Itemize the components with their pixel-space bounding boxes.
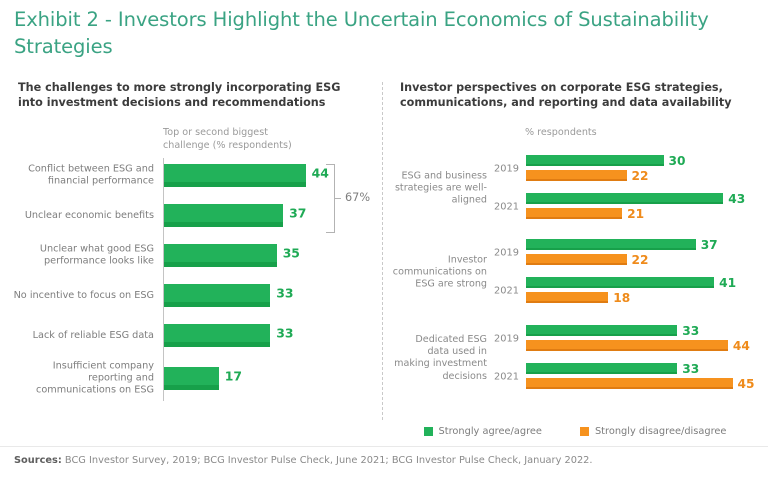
legend-item-disagree: Strongly disagree/disagree: [580, 426, 727, 437]
bracket-label: 67%: [345, 191, 370, 204]
exhibit-page: Exhibit 2 - Investors Highlight the Unce…: [0, 0, 768, 481]
right-bar-disagree: 22: [526, 170, 627, 181]
left-category-label: No incentive to focus on ESG: [6, 289, 154, 301]
right-bar-agree: 37: [526, 239, 696, 250]
bracket-marker: [326, 164, 335, 233]
right-bar-track: 43: [526, 193, 724, 204]
right-bar-subgroup: 2019 37 22: [382, 236, 768, 270]
sources-text: BCG Investor Survey, 2019; BCG Investor …: [65, 455, 593, 466]
right-bar-subgroup: 2021 33 45: [382, 360, 768, 394]
left-bar: 37: [164, 204, 283, 227]
right-bar-value: 45: [738, 377, 755, 391]
right-bar-track: 45: [526, 378, 733, 389]
right-bar-group: ESG and business strategies are well-ali…: [382, 152, 768, 225]
chart-legend: Strongly agree/agree Strongly disagree/d…: [382, 421, 768, 441]
left-bar-track: 35: [164, 244, 277, 267]
left-bar-track: 17: [164, 367, 219, 390]
right-bar-agree: 41: [526, 277, 715, 288]
left-category-label: Insufficient company reporting and commu…: [6, 360, 154, 397]
right-bar-value: 33: [682, 324, 699, 338]
left-bar-value: 33: [276, 286, 293, 301]
right-bar-disagree: 44: [526, 340, 728, 351]
left-bar-row: Unclear what good ESG performance looks …: [0, 240, 382, 271]
left-bar: 44: [164, 164, 306, 187]
bracket-tick: [335, 198, 341, 199]
left-bar: 33: [164, 284, 270, 307]
left-category-label: Lack of reliable ESG data: [6, 329, 154, 341]
right-bar-agree: 30: [526, 155, 664, 166]
right-bar-subgroup: 2021 41 18: [382, 274, 768, 308]
right-bar-subgroup: 2021 43 21: [382, 190, 768, 224]
left-bar-row: No incentive to focus on ESG 33: [0, 280, 382, 311]
left-bar-value: 35: [283, 246, 300, 261]
right-bar-group: Dedicated ESG data used in making invest…: [382, 322, 768, 395]
left-bar: 17: [164, 367, 219, 390]
sources-note: Sources: BCG Investor Survey, 2019; BCG …: [14, 455, 754, 466]
left-category-label: Unclear what good ESG performance looks …: [6, 243, 154, 268]
right-bar-value: 30: [669, 154, 686, 168]
right-bar-value: 22: [632, 169, 649, 183]
right-bar-track: 33: [526, 363, 678, 374]
right-bar-track: 33: [526, 325, 678, 336]
right-bar-value: 43: [728, 192, 745, 206]
left-bar-value: 17: [225, 369, 242, 384]
right-bar-value: 18: [613, 291, 630, 305]
right-bar-track: 18: [526, 292, 609, 303]
right-bar-value: 21: [627, 207, 644, 221]
right-bar-agree: 33: [526, 325, 678, 336]
left-bar-row: Unclear economic benefits 37: [0, 200, 382, 231]
left-bar-row: Insufficient company reporting and commu…: [0, 363, 382, 394]
right-bar-track: 41: [526, 277, 715, 288]
legend-swatch-icon: [424, 427, 433, 436]
right-bar-track: 21: [526, 208, 623, 219]
legend-swatch-icon: [580, 427, 589, 436]
right-bar-disagree: 45: [526, 378, 733, 389]
footer-divider: [0, 446, 768, 447]
right-bar-track: 30: [526, 155, 664, 166]
left-bar-value: 33: [276, 326, 293, 341]
left-bar: 35: [164, 244, 277, 267]
right-bar-disagree: 18: [526, 292, 609, 303]
sources-label: Sources:: [14, 455, 62, 466]
right-bar-value: 41: [719, 276, 736, 290]
left-bar-track: 33: [164, 324, 270, 347]
legend-item-agree: Strongly agree/agree: [424, 426, 542, 437]
right-bar-agree: 43: [526, 193, 724, 204]
right-bar-agree: 33: [526, 363, 678, 374]
right-bar-value: 37: [701, 238, 718, 252]
left-bar-row: Conflict between ESG and financial perfo…: [0, 160, 382, 191]
right-bar-track: 22: [526, 170, 627, 181]
right-bar-disagree: 21: [526, 208, 623, 219]
right-bar-subgroup: 2019 30 22: [382, 152, 768, 186]
left-bar-track: 37: [164, 204, 283, 227]
right-bar-group: Investor communications on ESG are stron…: [382, 236, 768, 309]
left-bar-value: 37: [289, 206, 306, 221]
left-category-label: Unclear economic benefits: [6, 209, 154, 221]
right-bar-value: 22: [632, 253, 649, 267]
legend-label: Strongly disagree/disagree: [595, 426, 727, 437]
right-bar-track: 44: [526, 340, 728, 351]
left-bar-chart: Conflict between ESG and financial perfo…: [0, 0, 382, 481]
left-bar: 33: [164, 324, 270, 347]
left-bar-track: 44: [164, 164, 306, 187]
left-bar-row: Lack of reliable ESG data 33: [0, 320, 382, 351]
right-bar-track: 37: [526, 239, 696, 250]
legend-label: Strongly agree/agree: [439, 426, 542, 437]
right-bar-chart: ESG and business strategies are well-ali…: [382, 0, 768, 481]
left-category-label: Conflict between ESG and financial perfo…: [6, 163, 154, 188]
right-bar-value: 44: [733, 339, 750, 353]
right-bar-track: 22: [526, 254, 627, 265]
right-bar-value: 33: [682, 362, 699, 376]
right-bar-subgroup: 2019 33 44: [382, 322, 768, 356]
left-bar-track: 33: [164, 284, 270, 307]
right-bar-disagree: 22: [526, 254, 627, 265]
